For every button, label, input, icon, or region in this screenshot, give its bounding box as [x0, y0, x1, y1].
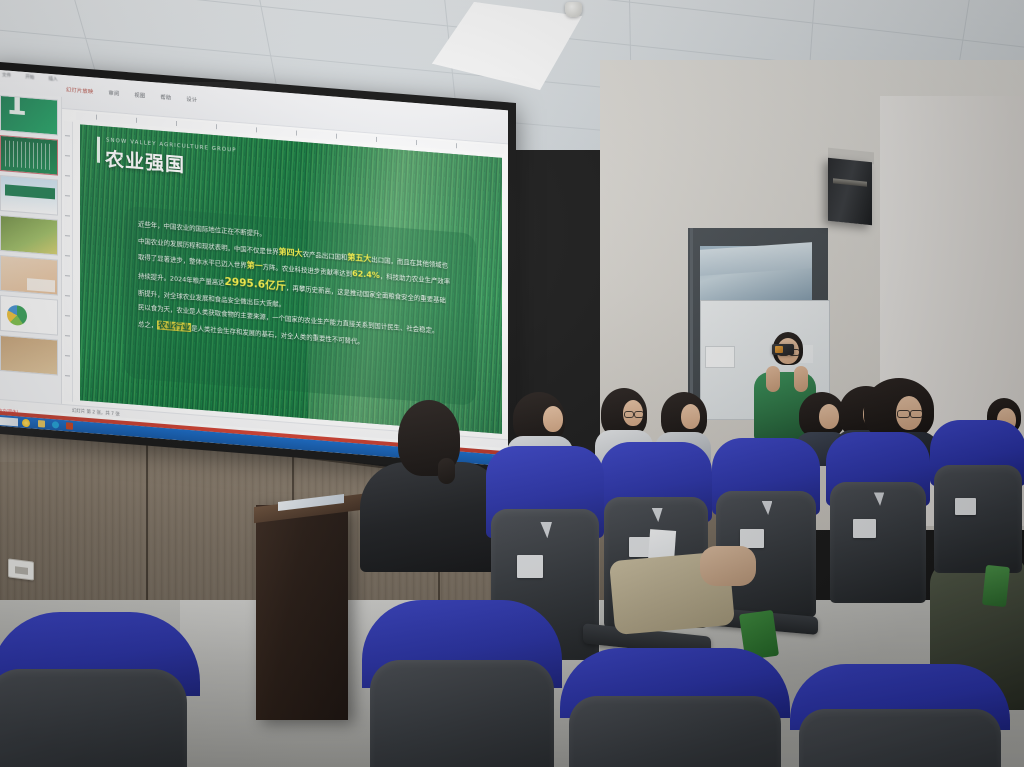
qa-item-2[interactable]: 插入: [48, 76, 57, 83]
green-folder: [982, 565, 1010, 607]
seat-row3-mid[interactable]: [826, 432, 930, 600]
seat-front-left[interactable]: [0, 612, 200, 767]
attendee-row1-a-face: [543, 406, 563, 432]
seat-shell: [569, 696, 781, 767]
seat-label: [740, 529, 764, 548]
attendee-row1-b-face: [623, 400, 643, 426]
seat-front-center[interactable]: [362, 600, 562, 767]
l2-mid: 农产品出口国和: [303, 250, 348, 262]
qa-item-1[interactable]: 开始: [25, 74, 34, 81]
ribbon-quick-access[interactable]: 文件 开始 插入: [2, 72, 58, 82]
seat-row3-right[interactable]: [930, 420, 1024, 570]
seat-shell: [370, 660, 554, 767]
l3-highlight-2: 62.4%: [352, 269, 380, 280]
presenter-left-arm: [766, 366, 780, 392]
slide-thumbnail-5[interactable]: [0, 255, 58, 296]
attendee-row1-c-face: [681, 404, 700, 429]
slide-counter-text: 幻灯片 第 2 张，共 7 张: [72, 407, 120, 417]
seat-label: [853, 519, 876, 537]
l4-pre: 持续提升。2024年粮产量高达: [138, 272, 225, 287]
tab-help[interactable]: 帮助: [160, 94, 171, 102]
l7-pre: 总之，: [138, 320, 157, 330]
slide-thumbnail-4[interactable]: [0, 215, 58, 256]
seat-front-far-right[interactable]: [790, 664, 1010, 767]
slide-thumbnail-6[interactable]: [0, 295, 58, 336]
ribbon-tab-list[interactable]: 幻灯片放映 审阅 视图 帮助 设计: [66, 86, 197, 103]
wall-notice-paper: [705, 346, 735, 368]
attendee-row1-b-glasses-icon: [624, 411, 644, 416]
edge-browser-icon[interactable]: [52, 421, 59, 429]
wall-speaker: [828, 158, 872, 226]
seat-shell: [0, 669, 187, 767]
slide-thumbnail-7[interactable]: [0, 335, 58, 376]
l3-highlight-1: 第一: [247, 261, 263, 271]
l2-highlight-2: 第五大: [347, 252, 371, 263]
slide-body-panel: 近些年，中国农业的国际地位正在不断提升。 中国农业的发展历程和现状表明，中国不仅…: [124, 206, 476, 406]
vertical-ruler: [64, 121, 73, 402]
tab-slideshow[interactable]: 幻灯片放映: [66, 86, 93, 95]
slide-thumbnail-1[interactable]: [0, 95, 58, 136]
slide-thumbnail-panel[interactable]: [0, 92, 62, 405]
slide-thumbnail-3[interactable]: [0, 175, 58, 216]
title-accent-bar: [97, 137, 100, 163]
weather-icon[interactable]: [22, 419, 30, 428]
qa-item-0[interactable]: 文件: [2, 72, 11, 79]
l2-highlight-1: 第四大: [279, 247, 303, 258]
seat-shell: [799, 709, 1001, 767]
seat-front-right[interactable]: [560, 648, 790, 767]
presenter-right-arm: [794, 366, 808, 392]
presenter-phone[interactable]: [772, 344, 794, 355]
powerpoint-icon[interactable]: [66, 422, 73, 430]
lectern-podium: [256, 505, 348, 720]
attendee-hand: [700, 546, 756, 586]
active-slide[interactable]: SNOW VALLEY AGRICULTURE GROUP 农业强国 近些年，中…: [80, 124, 502, 434]
slide-thumbnail-2[interactable]: [0, 135, 58, 176]
seat-label: [955, 498, 976, 515]
tab-review[interactable]: 审阅: [108, 90, 119, 98]
l2-post: 出口国，而且在其他领域也: [371, 255, 448, 269]
l4-grain-output: 2995.6亿斤: [225, 276, 287, 293]
l3-pre: 取得了显著进步，整体水平已迈入世界: [138, 253, 247, 270]
attendee-row2-c-face: [896, 396, 922, 430]
l3-tail: ，科技助力农业生产效率: [380, 273, 450, 287]
l7-highlight-box: 农业行业: [157, 320, 191, 332]
seat-shell: [934, 465, 1022, 573]
attendee-row2-c-glasses-icon: [897, 410, 923, 416]
lecture-hall-scene: 文件 开始 插入 幻灯片放映 审阅 视图 帮助 设计: [0, 0, 1024, 767]
attendee-front-left-ponytail: [438, 458, 455, 484]
l3-post: 方阵。农业科技进步贡献率达到: [263, 263, 352, 278]
start-button[interactable]: [0, 416, 18, 425]
tab-view[interactable]: 视图: [134, 92, 145, 100]
attendee-front-left-torso: [360, 462, 502, 572]
file-explorer-icon[interactable]: [38, 420, 45, 428]
seat-label: [517, 555, 543, 578]
smoke-detector-icon: [565, 2, 582, 17]
tab-design[interactable]: 设计: [186, 96, 197, 104]
power-outlet[interactable]: [8, 558, 34, 580]
